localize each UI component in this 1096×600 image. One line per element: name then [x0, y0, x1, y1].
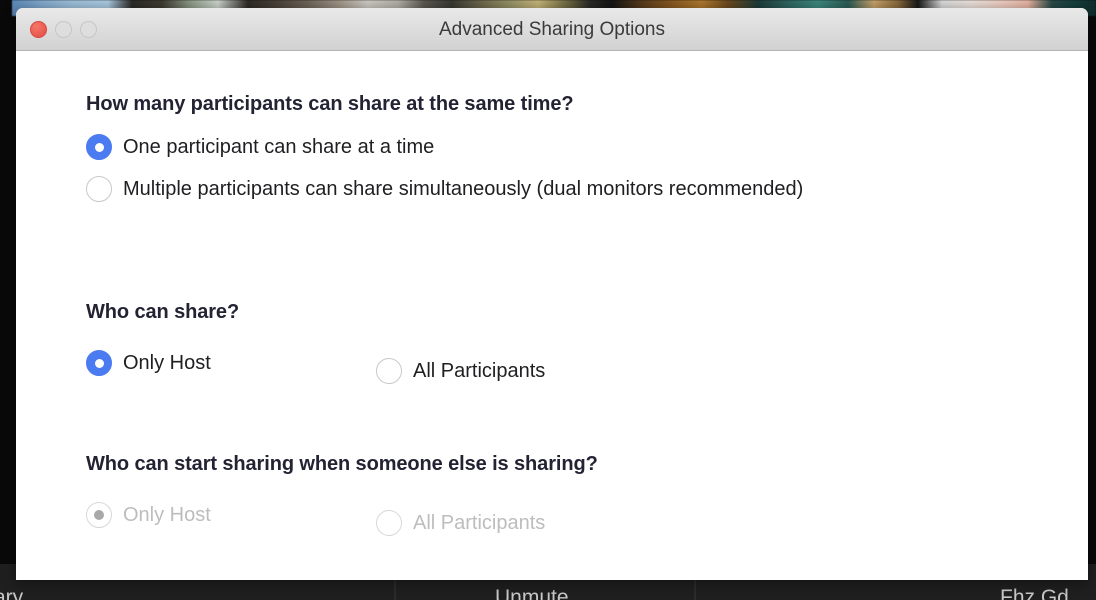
- radio-option-only-host-disabled: Only Host: [86, 502, 376, 528]
- dialog-titlebar: Advanced Sharing Options: [16, 8, 1088, 51]
- radio-icon-unselected-disabled: [376, 510, 402, 536]
- radio-label: All Participants: [413, 512, 545, 535]
- radio-icon-selected[interactable]: [86, 134, 112, 160]
- radio-icon-selected[interactable]: [86, 350, 112, 376]
- radio-label: Multiple participants can share simultan…: [123, 178, 803, 201]
- radio-label: One participant can share at a time: [123, 136, 434, 159]
- radio-icon-selected-disabled: [86, 502, 112, 528]
- section-who-can-start-sharing: Who can start sharing when someone else …: [86, 453, 598, 536]
- radio-group-who-can-start-sharing: Only Host All Participants: [86, 494, 598, 536]
- toolbar-divider: [394, 580, 396, 600]
- section-heading: How many participants can share at the s…: [86, 93, 803, 116]
- radio-label: All Participants: [413, 360, 545, 383]
- radio-option-one-participant[interactable]: One participant can share at a time: [86, 134, 803, 160]
- section-who-can-share: Who can share? Only Host All Participant…: [86, 301, 545, 384]
- section-share-concurrency: How many participants can share at the s…: [86, 93, 803, 202]
- radio-option-only-host[interactable]: Only Host: [86, 350, 376, 376]
- dialog-body: How many participants can share at the s…: [16, 51, 1088, 580]
- section-heading: Who can start sharing when someone else …: [86, 453, 598, 476]
- radio-label: Only Host: [123, 352, 211, 375]
- radio-label: Only Host: [123, 504, 211, 527]
- radio-option-all-participants[interactable]: All Participants: [376, 358, 545, 384]
- toolbar-divider: [694, 580, 696, 600]
- radio-group-share-concurrency: One participant can share at a time Mult…: [86, 134, 803, 202]
- radio-option-multiple-participants[interactable]: Multiple participants can share simultan…: [86, 176, 803, 202]
- screen: ary Unmute Fhz Gd Advanced Sharing Optio…: [0, 0, 1096, 600]
- advanced-sharing-options-dialog: Advanced Sharing Options How many partic…: [16, 8, 1088, 580]
- radio-option-all-participants-disabled: All Participants: [376, 510, 545, 536]
- radio-icon-unselected[interactable]: [376, 358, 402, 384]
- toolbar-fragment-center[interactable]: Unmute: [495, 586, 569, 600]
- toolbar-fragment-right[interactable]: Fhz Gd: [1000, 586, 1069, 600]
- toolbar-fragment-left[interactable]: ary: [0, 586, 23, 600]
- radio-icon-unselected[interactable]: [86, 176, 112, 202]
- dialog-title: Advanced Sharing Options: [16, 19, 1088, 41]
- section-heading: Who can share?: [86, 301, 545, 324]
- radio-group-who-can-share: Only Host All Participants: [86, 342, 545, 384]
